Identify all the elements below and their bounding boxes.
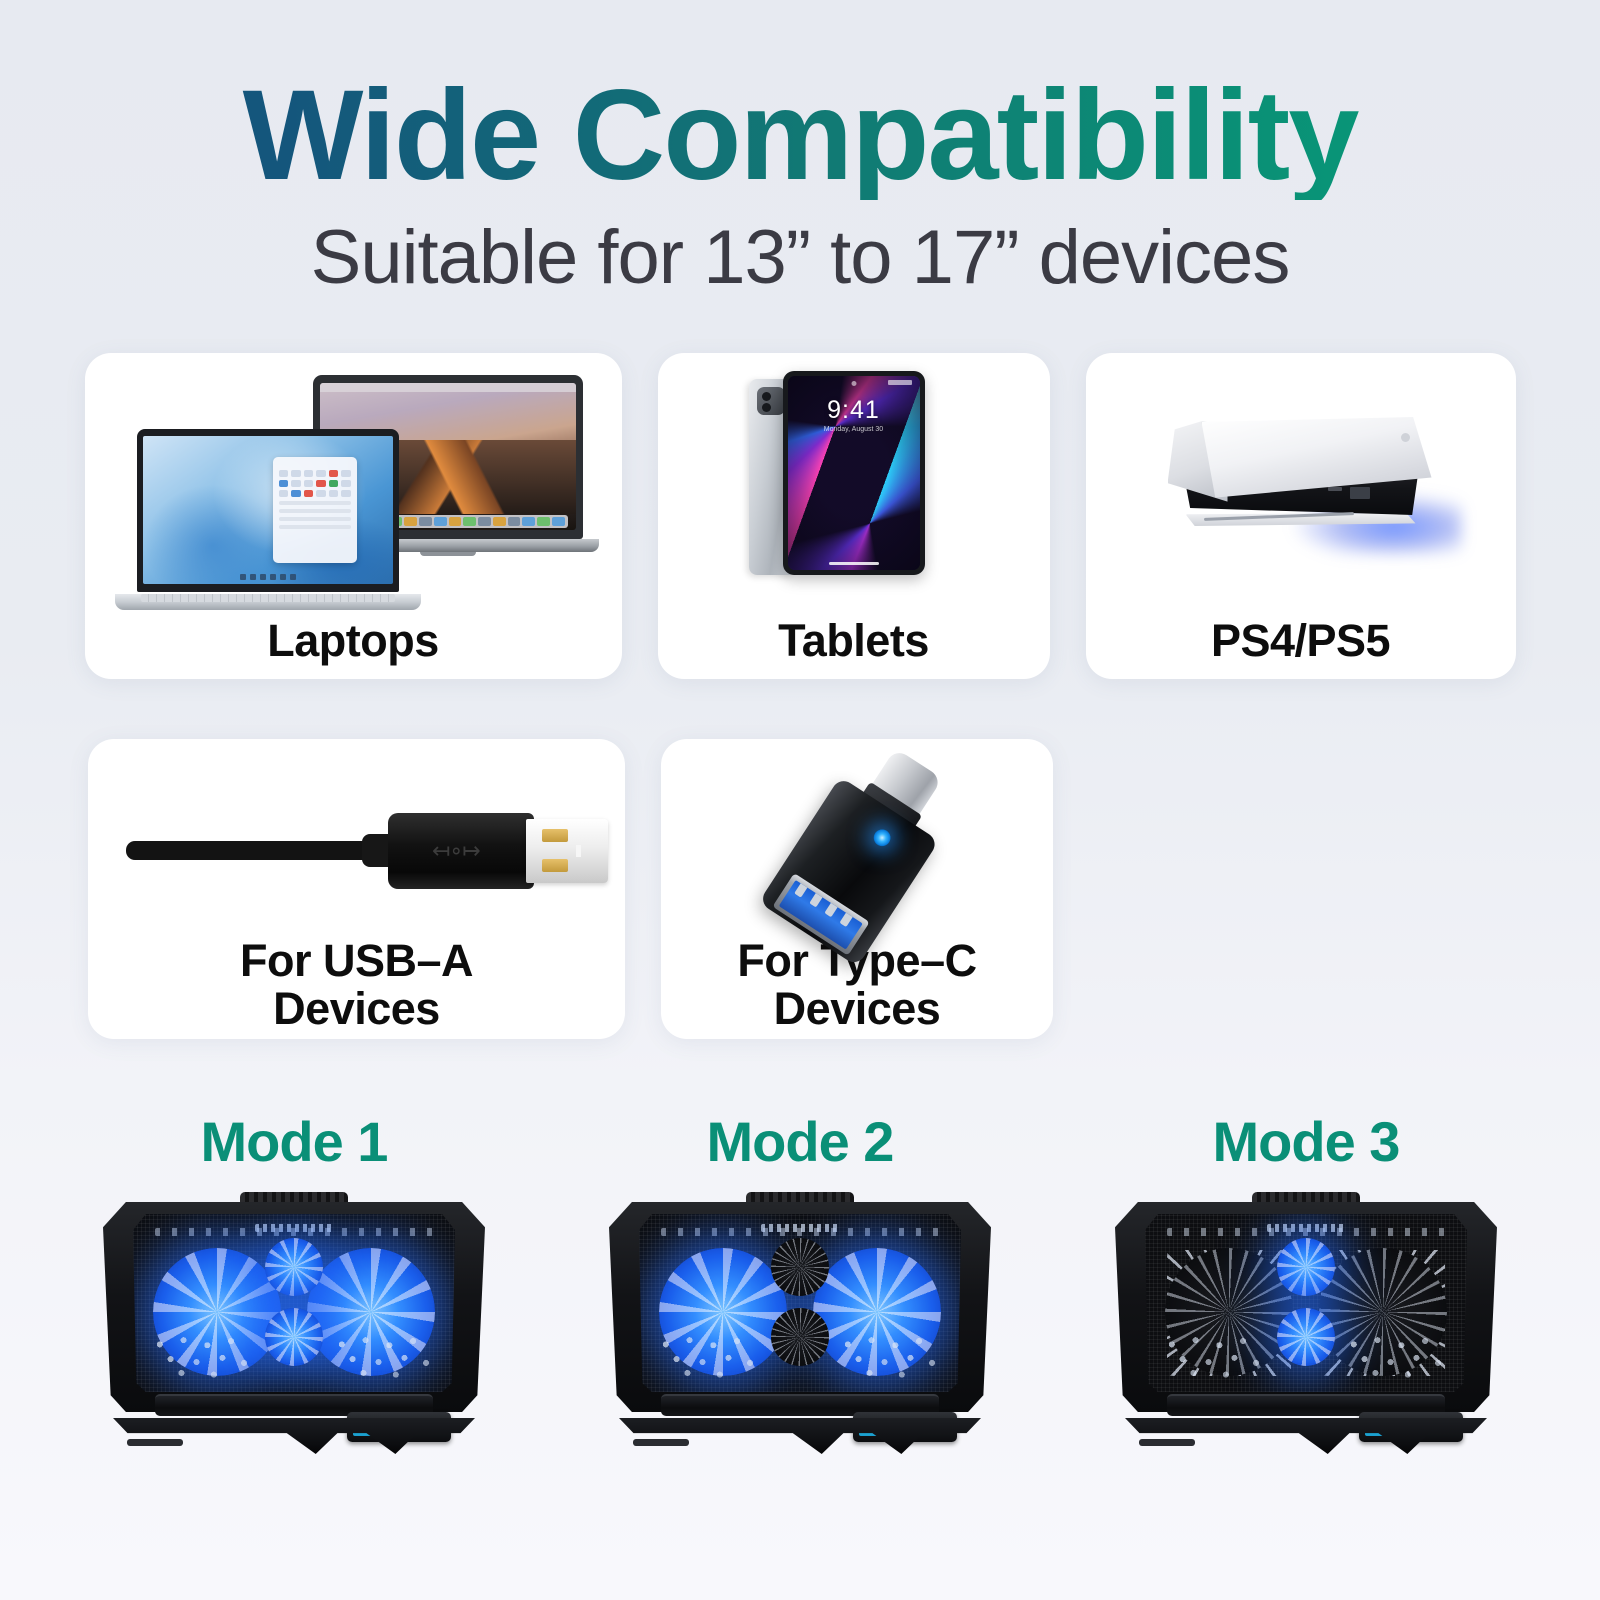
cooling-pad-image-mode-1: 888LED <box>103 1192 485 1448</box>
cooling-pad-image-mode-2: 888LED <box>609 1192 991 1448</box>
compatibility-card-tablets[interactable]: 9:41 Monday, August 30 Tablets <box>658 353 1050 679</box>
card-label-usb-a: For USB–A Devices <box>240 937 473 1039</box>
fan-small-top <box>771 1238 829 1296</box>
tablet-device-icon: 9:41 Monday, August 30 <box>658 353 1050 617</box>
laptop-devices-icon <box>85 353 622 617</box>
mode-item-1[interactable]: Mode 1 888LED <box>84 1109 504 1448</box>
usb-c-otg-adapter-icon <box>661 739 1053 937</box>
compatibility-card-consoles[interactable]: PS4/PS5 <box>1086 353 1516 679</box>
mode-label-2: Mode 2 <box>707 1109 894 1174</box>
compatibility-card-row-connectors: ↤∘↦ For USB–A Devices For Type–C Devices <box>88 739 1600 1039</box>
page-subtitle: Suitable for 13” to 17” devices <box>0 214 1600 301</box>
fan-small-bottom <box>771 1308 829 1366</box>
fan-small-top <box>1277 1238 1335 1296</box>
tablet-camera-icon <box>757 387 785 415</box>
tablet-lockscreen-date: Monday, August 30 <box>788 426 920 433</box>
mode-label-3: Mode 3 <box>1213 1109 1400 1174</box>
compatibility-card-usb-a[interactable]: ↤∘↦ For USB–A Devices <box>88 739 625 1039</box>
mode-item-2[interactable]: Mode 2 888LED <box>590 1109 1010 1448</box>
windows-laptop-icon <box>137 429 399 610</box>
mode-item-3[interactable]: Mode 3 888LED <box>1096 1109 1516 1448</box>
fan-small-top <box>265 1238 323 1296</box>
card-label-tablets: Tablets <box>778 617 929 679</box>
compatibility-card-row-devices: Laptops 9:41 Monday, August 30 <box>0 353 1600 679</box>
card-label-consoles: PS4/PS5 <box>1211 617 1390 679</box>
game-console-icon <box>1086 353 1516 617</box>
cooling-modes-section: Mode 1 888LED <box>0 1109 1600 1448</box>
tablet-lockscreen-time: 9:41 <box>788 396 920 425</box>
page-title: Wide Compatibility <box>0 72 1600 200</box>
mode-label-1: Mode 1 <box>201 1109 388 1174</box>
usb-trident-icon: ↤∘↦ <box>432 841 490 861</box>
header: Wide Compatibility Suitable for 13” to 1… <box>0 0 1600 301</box>
cooling-pad-image-mode-3: 888LED <box>1115 1192 1497 1448</box>
card-label-type-c-line2: Devices <box>774 983 941 1034</box>
compatibility-card-type-c[interactable]: For Type–C Devices <box>661 739 1053 1039</box>
card-label-usb-a-line1: For USB–A <box>240 935 473 986</box>
compatibility-card-laptops[interactable]: Laptops <box>85 353 622 679</box>
usb-a-cable-icon: ↤∘↦ <box>88 739 625 937</box>
fan-small-bottom <box>265 1308 323 1366</box>
card-label-usb-a-line2: Devices <box>273 983 440 1034</box>
card-label-laptops: Laptops <box>267 617 439 679</box>
fan-small-bottom <box>1277 1308 1335 1366</box>
